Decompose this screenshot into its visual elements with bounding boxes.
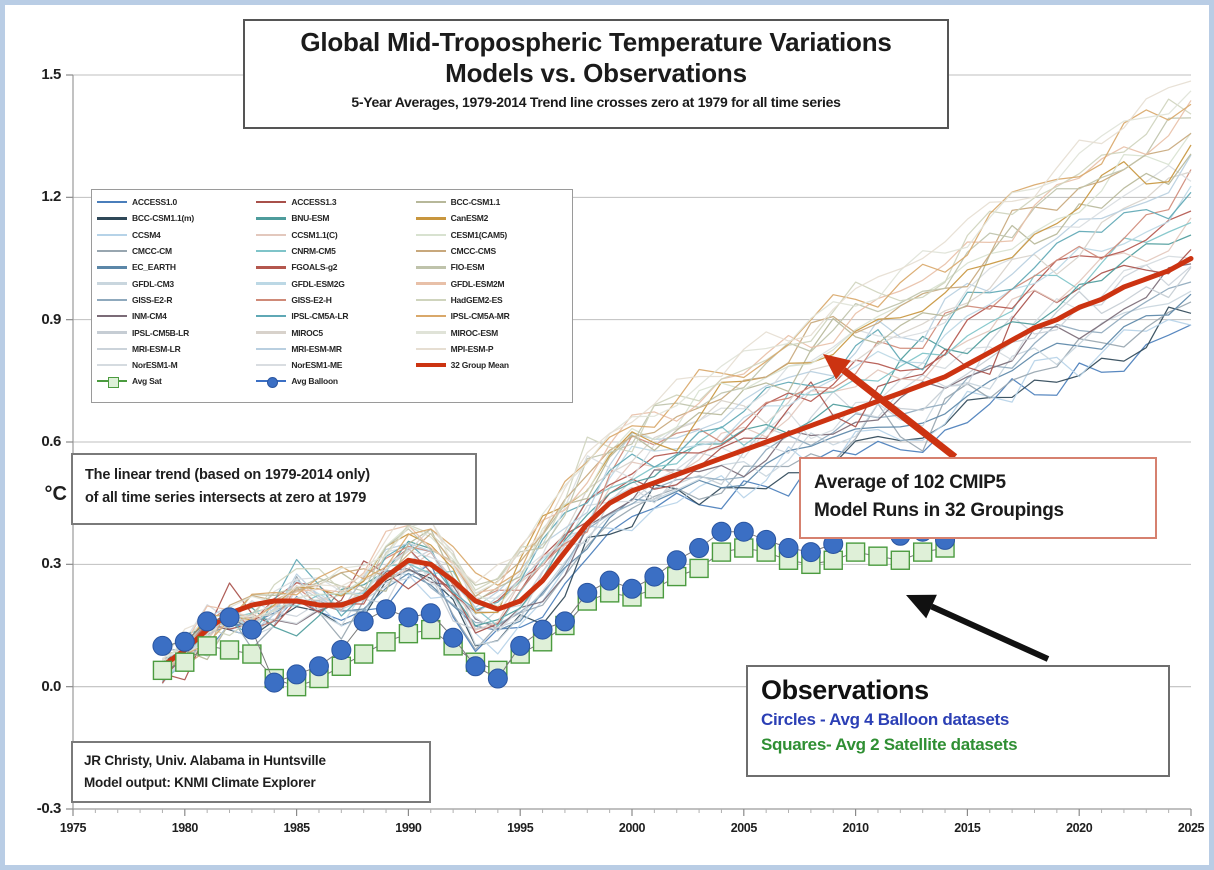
legend-item: NorESM1-ME xyxy=(253,357,412,373)
legend-color-swatch xyxy=(256,201,286,203)
y-tick-label: 1.5 xyxy=(13,66,61,83)
legend-color-swatch xyxy=(416,266,446,268)
x-tick-label: 2005 xyxy=(714,821,774,835)
legend-item: HadGEM2-ES xyxy=(413,292,572,308)
legend-item: Avg Sat xyxy=(94,373,253,389)
legend-item-label: EC_EARTH xyxy=(132,262,176,272)
legend-item: CMCC-CM xyxy=(94,243,253,259)
legend-item: CCSM4 xyxy=(94,227,253,243)
legend-item-label: IPSL-CM5A-MR xyxy=(451,311,510,321)
legend-item: GISS-E2-H xyxy=(253,292,412,308)
legend-color-swatch xyxy=(416,201,446,203)
legend-item-label: 32 Group Mean xyxy=(451,360,509,370)
legend-color-swatch xyxy=(416,234,446,236)
legend-color-swatch xyxy=(97,266,127,268)
legend-color-swatch xyxy=(256,331,286,333)
legend-color-swatch xyxy=(416,348,446,350)
legend-item: CNRM-CM5 xyxy=(253,243,412,259)
legend-item: INM-CM4 xyxy=(94,308,253,324)
legend-item-label: GISS-E2-R xyxy=(132,295,172,305)
legend-item: CCSM1.1(C) xyxy=(253,227,412,243)
legend-item: BCC-CSM1.1 xyxy=(413,194,572,210)
chart-title-line-2: Models vs. Observations xyxy=(245,58,947,89)
credit-box: JR Christy, Univ. Alabama in Huntsville … xyxy=(71,741,431,803)
legend-item: EC_EARTH xyxy=(94,259,253,275)
legend-column-1: ACCESS1.0BCC-CSM1.1(m)CCSM4CMCC-CMEC_EAR… xyxy=(94,194,253,402)
y-tick-label: 1.2 xyxy=(13,188,61,205)
legend-item-label: BCC-CSM1.1(m) xyxy=(132,213,194,223)
legend-item-label: MIROC-ESM xyxy=(451,328,498,338)
legend-color-swatch xyxy=(256,299,286,301)
legend-item-label: CCSM4 xyxy=(132,230,161,240)
legend-item-label: MIROC5 xyxy=(291,328,323,338)
observations-callout-title: Observations xyxy=(761,673,1155,707)
legend-item: MIROC-ESM xyxy=(413,324,572,340)
chart-title-box: Global Mid-Tropospheric Temperature Vari… xyxy=(243,19,949,129)
legend-item: ACCESS1.0 xyxy=(94,194,253,210)
observations-callout: Observations Circles - Avg 4 Balloon dat… xyxy=(746,665,1170,777)
legend-item: GFDL-CM3 xyxy=(94,275,253,291)
legend-item-label: CNRM-CM5 xyxy=(291,246,335,256)
legend-item-label: CCSM1.1(C) xyxy=(291,230,337,240)
x-tick-label: 2015 xyxy=(937,821,997,835)
y-tick-label: 0.9 xyxy=(13,311,61,328)
legend-color-swatch xyxy=(416,315,446,317)
legend-item-label: IPSL-CM5B-LR xyxy=(132,328,189,338)
legend-item-label: CMCC-CMS xyxy=(451,246,496,256)
chart-frame: 1.51.20.90.60.30.0-0.3 °C 19751980198519… xyxy=(0,0,1214,870)
legend-column-2: ACCESS1.3BNU-ESMCCSM1.1(C)CNRM-CM5FGOALS… xyxy=(253,194,412,402)
legend-item-label: HadGEM2-ES xyxy=(451,295,503,305)
legend-item-label: ACCESS1.3 xyxy=(291,197,336,207)
y-tick-label: 0.3 xyxy=(13,555,61,572)
legend-item: GFDL-ESM2G xyxy=(253,275,412,291)
y-tick-label: -0.3 xyxy=(13,800,61,817)
legend-item-label: IPSL-CM5A-LR xyxy=(291,311,348,321)
x-tick-label: 2025 xyxy=(1161,821,1214,835)
legend-item: MPI-ESM-P xyxy=(413,341,572,357)
legend-color-swatch xyxy=(256,348,286,350)
legend-column-3: BCC-CSM1.1CanESM2CESM1(CAM5)CMCC-CMSFIO-… xyxy=(413,194,572,402)
x-tick-label: 1995 xyxy=(490,821,550,835)
legend-item: MIROC5 xyxy=(253,324,412,340)
legend-item-label: Avg Balloon xyxy=(291,376,338,386)
legend-item-label: GFDL-ESM2G xyxy=(291,279,344,289)
legend-item-label: MRI-ESM-LR xyxy=(132,344,181,354)
legend-item-label: FGOALS-g2 xyxy=(291,262,337,272)
chart-subtitle: 5-Year Averages, 1979-2014 Trend line cr… xyxy=(245,94,947,110)
y-tick-label: 0.0 xyxy=(13,678,61,695)
cmip5-callout-line-1: Average of 102 CMIP5 xyxy=(814,469,1142,497)
legend-item-label: CESM1(CAM5) xyxy=(451,230,507,240)
legend-item-label: Avg Sat xyxy=(132,376,162,386)
legend-color-swatch xyxy=(256,250,286,252)
legend-color-swatch xyxy=(416,299,446,301)
x-tick-label: 2010 xyxy=(826,821,886,835)
x-tick-label: 1975 xyxy=(43,821,103,835)
legend-color-swatch xyxy=(256,282,286,284)
legend-item-label: GFDL-ESM2M xyxy=(451,279,505,289)
y-axis-unit-label: °C xyxy=(17,483,67,506)
legend-color-swatch xyxy=(416,331,446,333)
legend-item-label: GISS-E2-H xyxy=(291,295,331,305)
legend-item: GISS-E2-R xyxy=(94,292,253,308)
legend-color-swatch xyxy=(97,234,127,236)
y-tick-label: 0.6 xyxy=(13,433,61,450)
chart-title-line-1: Global Mid-Tropospheric Temperature Vari… xyxy=(245,27,947,58)
legend-item-label: GFDL-CM3 xyxy=(132,279,174,289)
balloon-marker-icon xyxy=(256,376,286,386)
legend-item: FGOALS-g2 xyxy=(253,259,412,275)
legend-item-label: INM-CM4 xyxy=(132,311,167,321)
legend-item: GFDL-ESM2M xyxy=(413,275,572,291)
x-tick-label: 1980 xyxy=(155,821,215,835)
observations-squares-legend: Squares- Avg 2 Satellite datasets xyxy=(761,732,1155,757)
legend-item: ACCESS1.3 xyxy=(253,194,412,210)
legend-color-swatch xyxy=(416,282,446,284)
legend-color-swatch xyxy=(256,364,286,366)
legend-item-label: FIO-ESM xyxy=(451,262,485,272)
legend-color-swatch xyxy=(256,234,286,236)
legend-color-swatch xyxy=(256,266,286,268)
legend-item-label: MPI-ESM-P xyxy=(451,344,494,354)
legend-color-swatch xyxy=(256,315,286,317)
legend-item-label: BCC-CSM1.1 xyxy=(451,197,500,207)
legend-item-label: CMCC-CM xyxy=(132,246,172,256)
chart-legend: ACCESS1.0BCC-CSM1.1(m)CCSM4CMCC-CMEC_EAR… xyxy=(91,189,573,403)
legend-color-swatch xyxy=(97,299,127,301)
trend-note-box: The linear trend (based on 1979-2014 onl… xyxy=(71,453,477,525)
legend-color-swatch xyxy=(97,331,127,333)
legend-item: BCC-CSM1.1(m) xyxy=(94,210,253,226)
x-tick-label: 2000 xyxy=(602,821,662,835)
legend-item-label: ACCESS1.0 xyxy=(132,197,177,207)
legend-color-swatch xyxy=(97,282,127,284)
legend-item-label: MRI-ESM-MR xyxy=(291,344,341,354)
legend-item: BNU-ESM xyxy=(253,210,412,226)
legend-item: IPSL-CM5A-LR xyxy=(253,308,412,324)
legend-item: Avg Balloon xyxy=(253,373,412,389)
trend-note-line-1: The linear trend (based on 1979-2014 onl… xyxy=(85,464,463,487)
legend-item-label: BNU-ESM xyxy=(291,213,329,223)
legend-color-swatch xyxy=(416,363,446,367)
x-tick-label: 1985 xyxy=(267,821,327,835)
legend-item: MRI-ESM-MR xyxy=(253,341,412,357)
legend-color-swatch xyxy=(97,315,127,317)
legend-color-swatch xyxy=(97,250,127,252)
legend-item: IPSL-CM5B-LR xyxy=(94,324,253,340)
legend-item: MRI-ESM-LR xyxy=(94,341,253,357)
cmip5-average-callout: Average of 102 CMIP5 Model Runs in 32 Gr… xyxy=(799,457,1157,539)
legend-color-swatch xyxy=(97,201,127,203)
legend-item: 32 Group Mean xyxy=(413,357,572,373)
legend-color-swatch xyxy=(256,217,286,219)
legend-color-swatch xyxy=(97,348,127,350)
legend-item: CMCC-CMS xyxy=(413,243,572,259)
legend-color-swatch xyxy=(416,250,446,252)
observations-circles-legend: Circles - Avg 4 Balloon datasets xyxy=(761,707,1155,732)
credit-line-1: JR Christy, Univ. Alabama in Huntsville xyxy=(84,750,418,772)
legend-item-label: NorESM1-ME xyxy=(291,360,342,370)
legend-item-label: NorESM1-M xyxy=(132,360,177,370)
legend-color-swatch xyxy=(97,217,127,219)
legend-item: CESM1(CAM5) xyxy=(413,227,572,243)
legend-item: CanESM2 xyxy=(413,210,572,226)
x-tick-label: 1990 xyxy=(378,821,438,835)
trend-note-line-2: of all time series intersects at zero at… xyxy=(85,487,463,510)
legend-item: IPSL-CM5A-MR xyxy=(413,308,572,324)
legend-item: NorESM1-M xyxy=(94,357,253,373)
legend-color-swatch xyxy=(416,217,446,219)
legend-item-label: CanESM2 xyxy=(451,213,488,223)
x-tick-label: 2020 xyxy=(1049,821,1109,835)
legend-item: FIO-ESM xyxy=(413,259,572,275)
cmip5-callout-line-2: Model Runs in 32 Groupings xyxy=(814,497,1142,525)
legend-color-swatch xyxy=(97,364,127,366)
credit-line-2: Model output: KNMI Climate Explorer xyxy=(84,772,418,794)
satellite-marker-icon xyxy=(97,376,127,386)
